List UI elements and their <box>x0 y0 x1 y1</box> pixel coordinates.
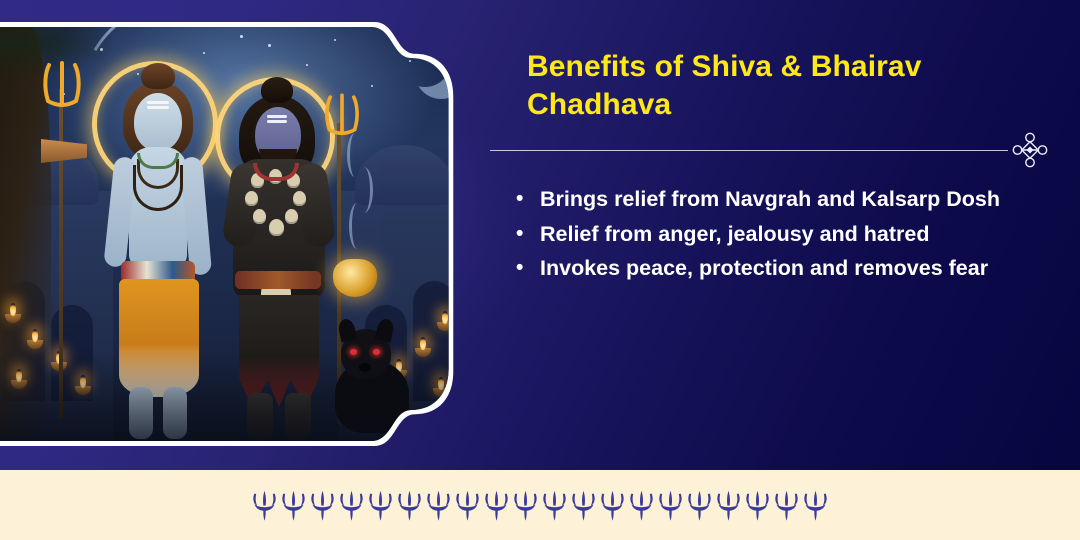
list-item: • Invokes peace, protection and removes … <box>516 252 1056 285</box>
trishul-icon <box>482 488 511 522</box>
bullet-marker: • <box>516 183 540 215</box>
trishul-icon <box>714 488 743 522</box>
kamandalu-pot <box>333 259 377 297</box>
divider-line <box>490 150 1008 151</box>
slide-canvas: Benefits of Shiva & Bhairav Chadhava • B… <box>0 0 1080 540</box>
trishul-icon <box>656 488 685 522</box>
list-item-label: Brings relief from Navgrah and Kalsarp D… <box>540 183 1056 216</box>
trishul-icon <box>453 488 482 522</box>
trishul-icon <box>250 488 279 522</box>
trishul-icon <box>337 488 366 522</box>
trishul-icon <box>743 488 772 522</box>
trishul-icon <box>598 488 627 522</box>
trishul-icon <box>308 488 337 522</box>
list-item-label: Invokes peace, protection and removes fe… <box>540 252 1056 285</box>
trishul-icon <box>569 488 598 522</box>
trishul-icon <box>685 488 714 522</box>
trishul-icon <box>395 488 424 522</box>
trishul-icon <box>424 488 453 522</box>
trishul-icon <box>801 488 830 522</box>
page-title-line-1: Benefits of Shiva & Bhairav <box>527 48 997 86</box>
benefits-list: • Brings relief from Navgrah and Kalsarp… <box>516 183 1056 287</box>
trishul-icon <box>366 488 395 522</box>
artwork-image <box>0 27 465 441</box>
trishul-icon <box>511 488 540 522</box>
trishul-icon <box>279 488 308 522</box>
list-item: • Relief from anger, jealousy and hatred <box>516 218 1056 251</box>
list-item: • Brings relief from Navgrah and Kalsarp… <box>516 183 1056 216</box>
artwork-frame-wrapper <box>0 22 470 446</box>
page-title: Benefits of Shiva & Bhairav Chadhava <box>527 48 997 124</box>
list-item-label: Relief from anger, jealousy and hatred <box>540 218 1056 251</box>
page-title-line-2: Chadhava <box>527 86 997 124</box>
trishul-icon <box>627 488 656 522</box>
bullet-marker: • <box>516 252 540 284</box>
four-lobed-knot-ornament-icon <box>1010 130 1050 170</box>
divider <box>490 140 1050 160</box>
trishul-icon <box>540 488 569 522</box>
trishul-row <box>250 488 830 522</box>
trishul-icon <box>772 488 801 522</box>
trident-head-shiva <box>41 61 83 113</box>
bullet-marker: • <box>516 218 540 250</box>
footer-band <box>0 470 1080 540</box>
